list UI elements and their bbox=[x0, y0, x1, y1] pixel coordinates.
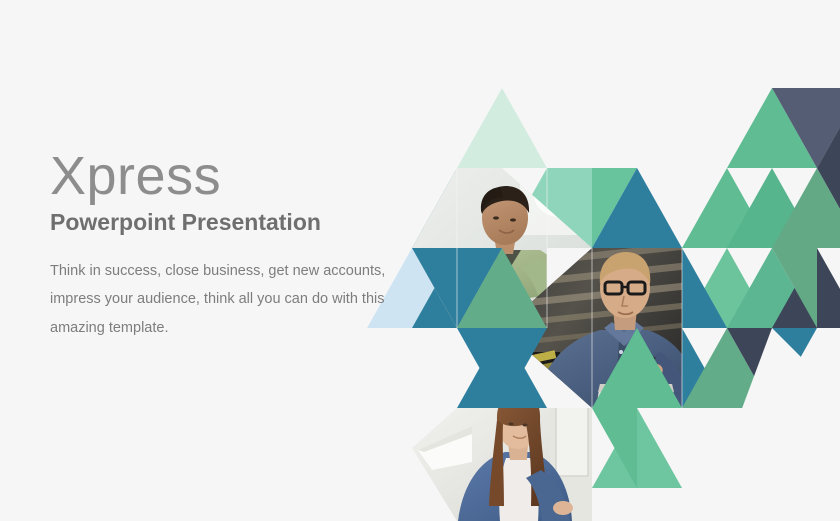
photo-man-glasses bbox=[495, 240, 700, 420]
tri-slate-light bbox=[772, 88, 840, 168]
tri-green-r4c bbox=[592, 328, 682, 408]
tri-blue-r4f bbox=[682, 328, 727, 408]
tri-blue-r4b bbox=[457, 328, 547, 408]
tri-greenmute-r2 bbox=[772, 168, 840, 248]
page-subtitle: Powerpoint Presentation bbox=[50, 209, 420, 235]
tri-slate-r4 bbox=[727, 328, 772, 408]
tri-green-r5b bbox=[592, 408, 682, 488]
tri-green-r3g bbox=[772, 248, 817, 328]
tri-slate bbox=[817, 88, 840, 168]
tri-blue-r3e bbox=[682, 248, 727, 328]
tri-slate-r3 bbox=[772, 248, 840, 328]
tri-blue-r4d bbox=[637, 328, 682, 408]
hero-body-text: Think in success, close business, get ne… bbox=[50, 257, 402, 342]
tri-blue-r2 bbox=[592, 168, 682, 248]
tri-mint-over1 bbox=[547, 168, 592, 248]
tri-mint-r2a bbox=[502, 168, 592, 248]
tri-green-r5c bbox=[592, 408, 637, 488]
hero-text-block: Xpress Powerpoint Presentation Think in … bbox=[50, 148, 420, 342]
photo-man-green-sweater bbox=[400, 160, 610, 340]
tri-green-r4g bbox=[682, 328, 772, 408]
photo-woman-denim bbox=[405, 392, 600, 521]
presentation-slide: Xpress Powerpoint Presentation Think in … bbox=[0, 0, 840, 521]
tri-blue-r3a bbox=[412, 248, 502, 328]
tri-greenmute-r3 bbox=[727, 248, 817, 328]
tri-green-r2d bbox=[727, 168, 817, 248]
tri-green-r3d bbox=[682, 248, 772, 328]
page-title: Xpress bbox=[50, 148, 420, 205]
tri-mint-pale bbox=[457, 88, 547, 168]
tri-green-r3a bbox=[457, 248, 547, 328]
tri-green-over2 bbox=[592, 328, 682, 408]
mosaic-seams bbox=[457, 88, 682, 408]
tri-green-r2c bbox=[682, 168, 772, 248]
tri-slate-r2 bbox=[817, 168, 840, 248]
tri-blue-r4i bbox=[772, 328, 817, 408]
tri-green-over1b bbox=[457, 248, 547, 328]
tri-blue-over1 bbox=[412, 248, 502, 328]
tri-white-cut bbox=[700, 328, 840, 521]
glasses bbox=[605, 282, 645, 294]
tri-blue-over1c bbox=[457, 328, 547, 408]
tri-green-r2 bbox=[547, 168, 637, 248]
tri-green bbox=[727, 88, 817, 168]
mosaic-triangles bbox=[367, 88, 840, 521]
